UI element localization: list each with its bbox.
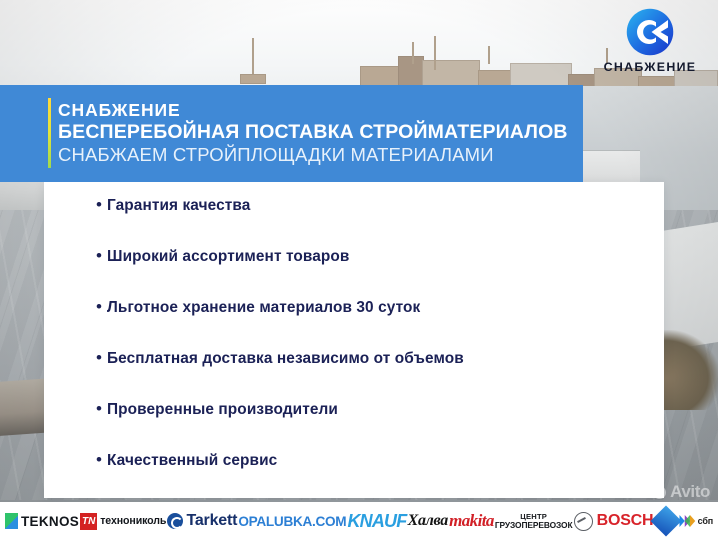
partner-logo-teknos: TEKNOS <box>5 509 79 533</box>
partner-logo-knauf: KNAUF <box>347 509 406 533</box>
partner-logo-halva: Халва <box>408 509 448 533</box>
bullet-icon: • <box>96 400 107 417</box>
banner-subtitle: СНАБЖАЕМ СТРОЙПЛОЩАДКИ МАТЕРИАЛАМИ <box>58 144 568 166</box>
list-item: • Проверенные производители <box>96 400 664 451</box>
partner-name: технониколь <box>100 515 166 527</box>
partner-logo-bosch: BOSCH <box>574 509 654 533</box>
partner-name: сбп <box>698 516 713 526</box>
teknos-mark-icon <box>5 513 18 529</box>
list-item: • Широкий ассортимент товаров <box>96 247 664 298</box>
accent-bar <box>48 98 51 168</box>
bullet-icon: • <box>96 349 107 366</box>
partner-name: KNAUF <box>347 511 406 532</box>
partner-name: Халва <box>408 512 448 530</box>
benefit-label: Льготное хранение материалов 30 суток <box>107 299 420 317</box>
list-item: • Льготное хранение материалов 30 суток <box>96 298 664 349</box>
partner-name-bottom: ГРУЗОПЕРЕВОЗОК <box>495 521 573 530</box>
tarkett-swirl-icon <box>167 513 183 529</box>
list-item: • Качественный сервис <box>96 451 664 502</box>
partner-name: BOSCH <box>597 512 654 530</box>
partner-name: TEKNOS <box>21 514 79 529</box>
benefits-card: • Гарантия качества • Широкий ассортимен… <box>44 182 664 498</box>
partner-name: makita <box>449 511 494 531</box>
bullet-icon: • <box>96 298 107 315</box>
benefit-label: Бесплатная доставка независимо от объемо… <box>107 350 464 368</box>
brand-name: СНАБЖЕНИЕ <box>598 61 702 73</box>
tn-square-icon: TN <box>80 513 97 530</box>
benefit-label: Гарантия качества <box>107 197 250 215</box>
benefit-label: Качественный сервис <box>107 452 277 470</box>
partner-logo-diamond <box>655 509 677 533</box>
bullet-icon: • <box>96 196 107 213</box>
banner-kicker: СНАБЖЕНИЕ <box>58 101 568 121</box>
partner-logo-makita: makita <box>449 509 494 533</box>
partner-logo-tekhnonikol: TN технониколь <box>80 509 166 533</box>
partner-logo-tarkett: Tarkett <box>167 509 237 533</box>
partner-name: Tarkett <box>186 512 237 530</box>
headline-banner: СНАБЖЕНИЕ БЕСПЕРЕБОЙНАЯ ПОСТАВКА СТРОЙМА… <box>0 85 583 182</box>
brand-logo: СНАБЖЕНИЕ <box>598 8 702 73</box>
promo-poster: СНАБЖЕНИЕ СНАБЖЕНИЕ БЕСПЕРЕБОЙНАЯ ПОСТАВ… <box>0 0 718 540</box>
partner-logo-sbp: сбп <box>678 509 713 533</box>
partner-logo-strip: TEKNOS TN технониколь Tarkett OPALUBKA.C… <box>0 502 718 540</box>
snabzhenie-circle-logo-icon <box>626 8 674 56</box>
benefit-label: Проверенные производители <box>107 401 338 419</box>
blue-diamond-icon <box>650 505 681 536</box>
bosch-armature-icon <box>574 512 593 531</box>
bullet-icon: • <box>96 451 107 468</box>
benefit-label: Широкий ассортимент товаров <box>107 248 349 266</box>
partner-logo-centr-gruzoperevozok: ЦЕНТР ГРУЗОПЕРЕВОЗОК <box>495 509 573 533</box>
partner-logo-opalubka: OPALUBKA.COM <box>238 509 346 533</box>
benefits-list: • Гарантия качества • Широкий ассортимен… <box>44 182 664 502</box>
bullet-icon: • <box>96 247 107 264</box>
list-item: • Бесплатная доставка независимо от объе… <box>96 349 664 400</box>
sbp-mark-icon <box>678 512 696 530</box>
banner-title: БЕСПЕРЕБОЙНАЯ ПОСТАВКА СТРОЙМАТЕРИАЛОВ <box>58 121 568 144</box>
partner-name: OPALUBKA.COM <box>238 514 346 529</box>
list-item: • Гарантия качества <box>96 196 664 247</box>
banner-text-block: СНАБЖЕНИЕ БЕСПЕРЕБОЙНАЯ ПОСТАВКА СТРОЙМА… <box>0 101 568 166</box>
